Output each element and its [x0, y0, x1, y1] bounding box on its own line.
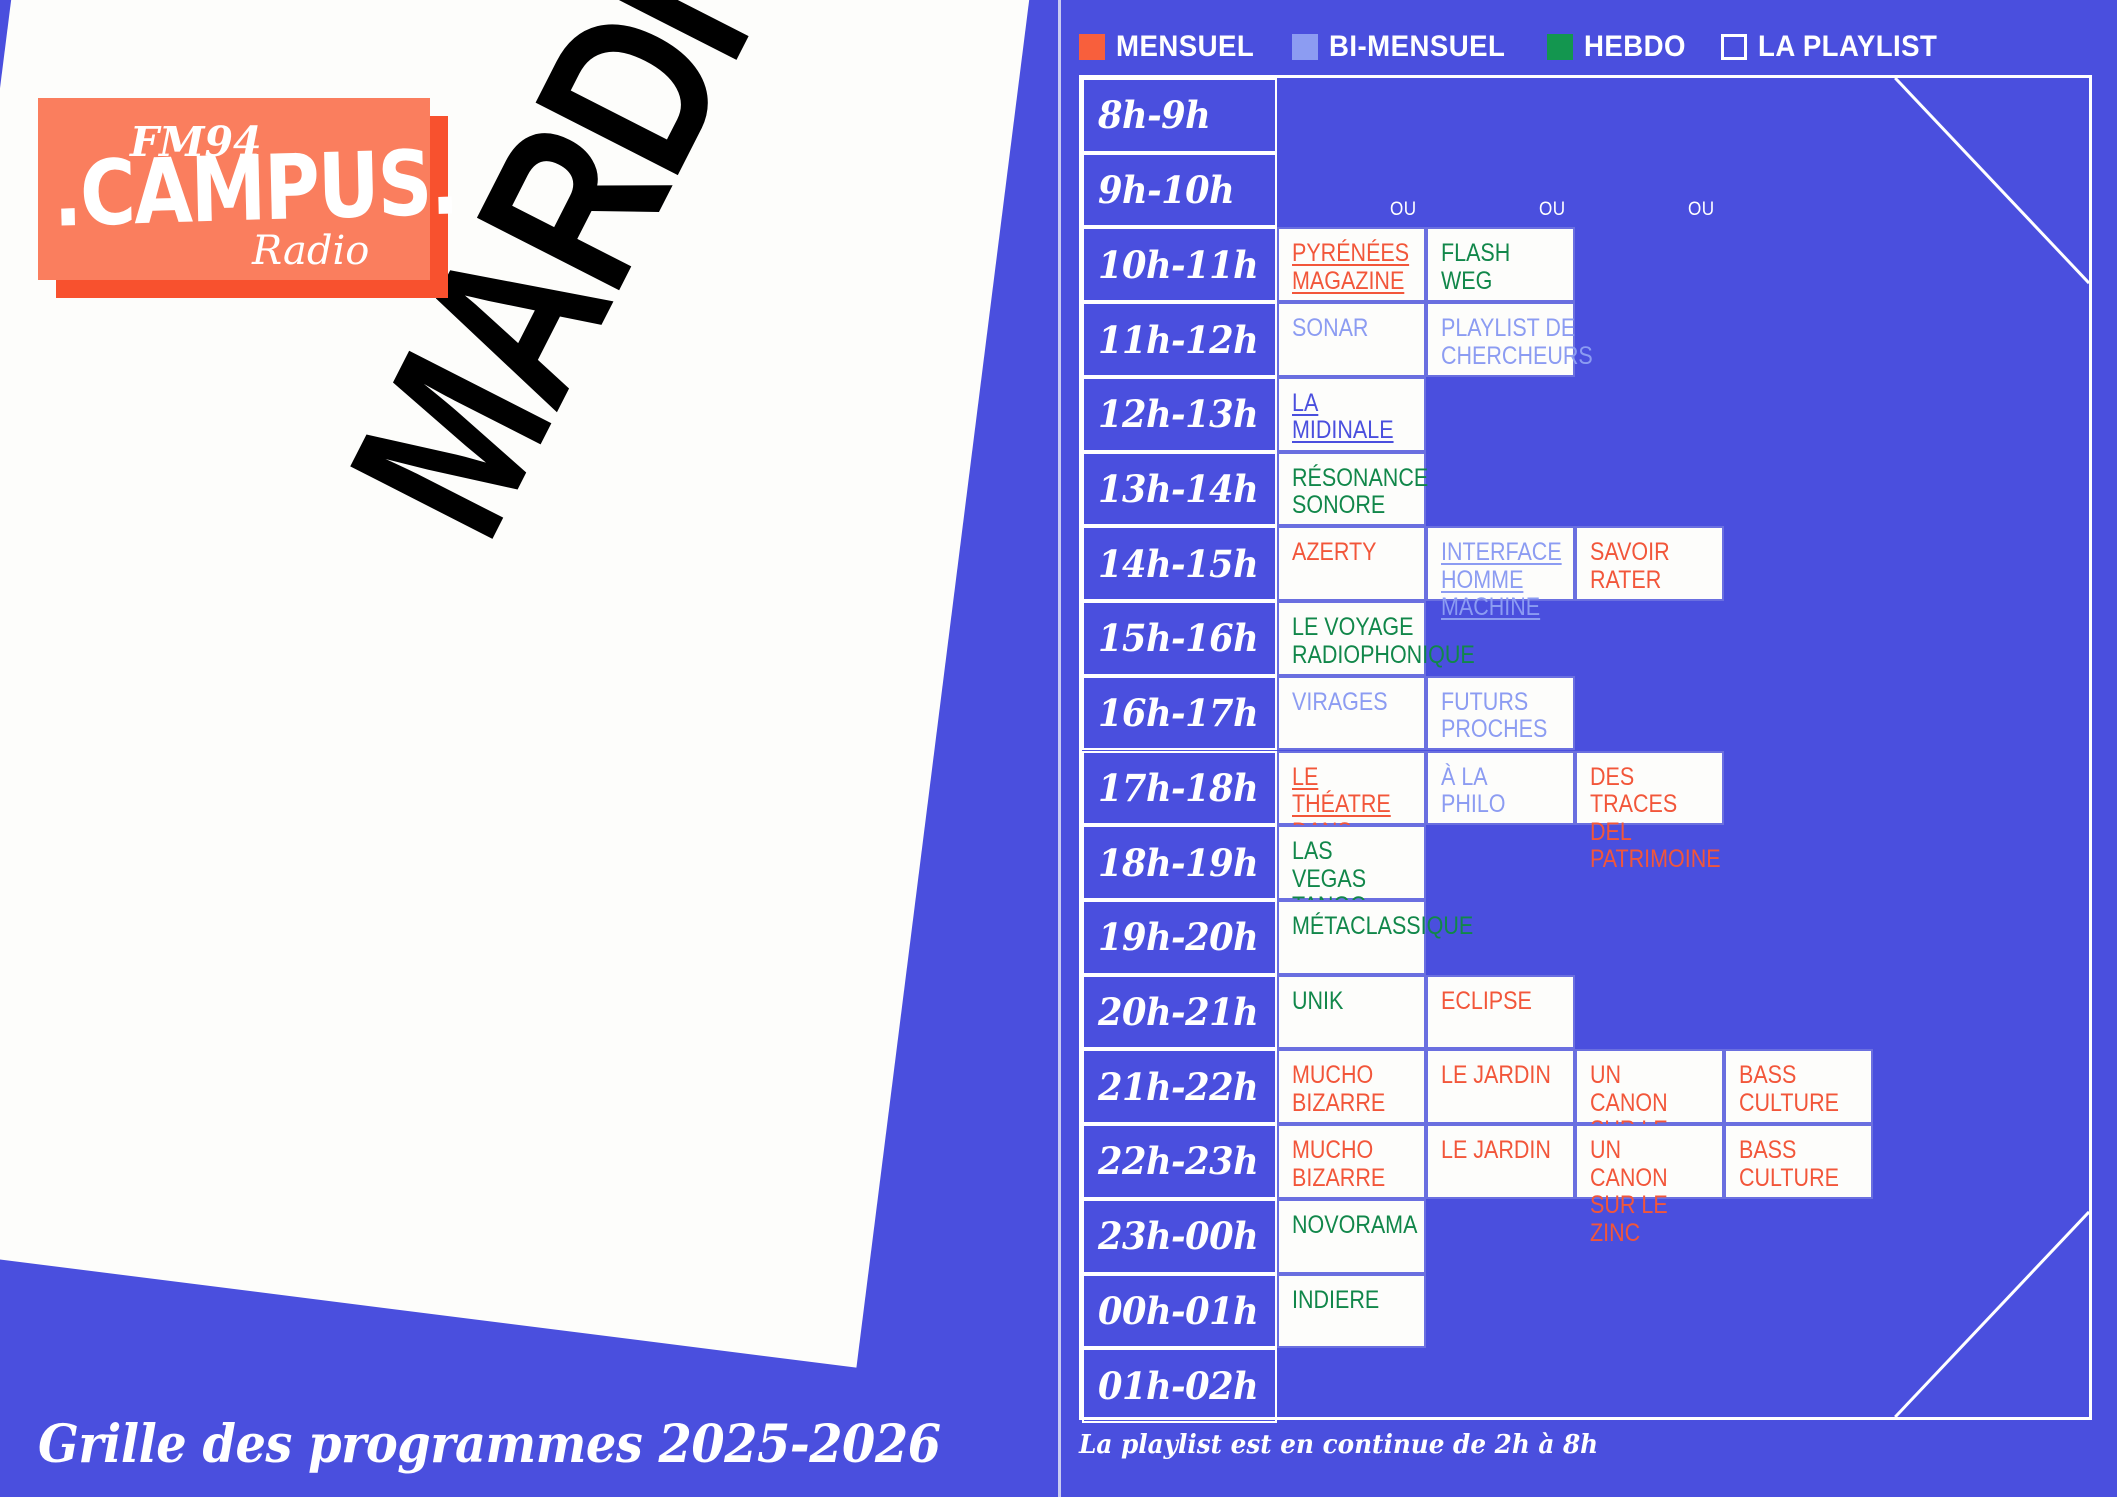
schedule-row: 01h-02h [1082, 1348, 2089, 1423]
program-title: FUTURS PROCHES [1441, 689, 1547, 744]
program-cell[interactable]: LE VOYAGE RADIOPHONIQUE [1277, 601, 1426, 676]
time-slot-label: 20h-21h [1098, 990, 1258, 1034]
time-slot-cell: 01h-02h [1082, 1348, 1277, 1423]
program-title: AZERTY [1292, 539, 1376, 567]
program-cell[interactable]: NOVORAMA [1277, 1199, 1426, 1274]
program-cell[interactable]: FLASH WEG [1426, 227, 1575, 302]
schedule-row: 20h-21hUNIKECLIPSE [1082, 975, 2089, 1050]
program-cell[interactable]: MUCHO BIZARRE [1277, 1049, 1426, 1124]
schedule-row: 10h-11hPYRÉNÉES MAGAZINEFLASH WEG [1082, 227, 2089, 302]
left-panel: MARDI FM94 .CAMPUS. Radio Grille des pro… [0, 0, 1058, 1497]
legend-label: HEBDO [1584, 30, 1686, 64]
time-slot-cell: 18h-19h [1082, 825, 1277, 900]
program-title: BASS CULTURE [1739, 1137, 1853, 1192]
legend-label: MENSUEL [1116, 30, 1254, 64]
program-cell[interactable]: AZERTY [1277, 526, 1426, 601]
program-cell[interactable]: ECLIPSE [1426, 975, 1575, 1050]
schedule-row: 15h-16hLE VOYAGE RADIOPHONIQUE [1082, 601, 2089, 676]
time-slot-label: 23h-00h [1098, 1214, 1258, 1258]
program-title: MÉTACLASSIQUE [1292, 913, 1473, 941]
program-title: PLAYLIST DE CHERCHEURS [1441, 315, 1593, 370]
time-slot-cell: 19h-20h [1082, 900, 1277, 975]
program-cell[interactable]: MÉTACLASSIQUE [1277, 900, 1426, 975]
program-cell[interactable]: INTERFACE HOMME MACHINE [1426, 526, 1575, 601]
program-cell[interactable]: FUTURS PROCHES [1426, 676, 1575, 751]
program-title: PYRÉNÉES MAGAZINE [1292, 240, 1409, 295]
legend-item-mensuel: MENSUEL [1079, 30, 1266, 64]
time-slot-label: 10h-11h [1098, 243, 1258, 287]
program-title: LE JARDIN [1441, 1137, 1551, 1165]
time-slot-label: 15h-16h [1098, 616, 1258, 660]
time-slot-cell: 11h-12h [1082, 302, 1277, 377]
program-cell[interactable]: VIRAGES [1277, 676, 1426, 751]
program-cell[interactable]: LAS VEGAS TANGO [1277, 825, 1426, 900]
program-cell[interactable]: UNIK [1277, 975, 1426, 1050]
time-slot-cell: 14h-15h [1082, 526, 1277, 601]
program-title: MUCHO BIZARRE [1292, 1062, 1385, 1117]
program-cell[interactable]: MUCHO BIZARRE [1277, 1124, 1426, 1199]
program-cell[interactable]: SAVOIR RATER [1575, 526, 1724, 601]
program-title: BASS CULTURE [1739, 1062, 1853, 1117]
program-cell[interactable]: INDIERE [1277, 1274, 1426, 1349]
station-logo: FM94 .CAMPUS. Radio [38, 98, 448, 298]
program-title: SONAR [1292, 315, 1368, 343]
schedule-row: 17h-18hLE THÉATRE DANS TOUS SES ÉTATSÀ L… [1082, 751, 2089, 826]
schedule-row: 22h-23hMUCHO BIZARRELE JARDINUN CANON SU… [1082, 1124, 2089, 1199]
time-slot-label: 13h-14h [1098, 467, 1258, 511]
mensuel-swatch-icon [1079, 34, 1105, 60]
program-title: INDIERE [1292, 1287, 1379, 1315]
legend-item-hebdo: HEBDO [1547, 30, 1695, 64]
time-slot-label: 8h-9h [1098, 93, 1210, 137]
time-slot-label: 16h-17h [1098, 691, 1258, 735]
time-slot-label: 01h-02h [1098, 1364, 1258, 1408]
time-slot-label: 9h-10h [1098, 168, 1234, 212]
schedule-grid: 8h-9h9h-10h10h-11hPYRÉNÉES MAGAZINEFLASH… [1079, 75, 2092, 1420]
time-slot-cell: 9h-10h [1082, 153, 1277, 228]
time-slot-cell: 21h-22h [1082, 1049, 1277, 1124]
program-title: ECLIPSE [1441, 988, 1532, 1016]
schedule-row: 11h-12hSONARPLAYLIST DE CHERCHEURS [1082, 302, 2089, 377]
program-cell[interactable]: LE THÉATRE DANS TOUS SES ÉTATS [1277, 751, 1426, 826]
time-slot-label: 18h-19h [1098, 841, 1258, 885]
program-title: RÉSONANCE SONORE [1292, 465, 1428, 520]
time-slot-label: 19h-20h [1098, 915, 1258, 959]
time-slot-label: 00h-01h [1098, 1289, 1258, 1333]
schedule-row: 21h-22hMUCHO BIZARRELE JARDINUN CANON SU… [1082, 1049, 2089, 1124]
schedule-row: 23h-00hNOVORAMA [1082, 1199, 2089, 1274]
right-panel: MENSUELBI-MENSUELHEBDOLA PLAYLIST 8h-9h9… [1058, 0, 2117, 1497]
time-slot-cell: 12h-13h [1082, 377, 1277, 452]
time-slot-label: 21h-22h [1098, 1065, 1258, 1109]
program-title: VIRAGES [1292, 689, 1388, 717]
time-slot-label: 17h-18h [1098, 766, 1258, 810]
time-slot-cell: 13h-14h [1082, 452, 1277, 527]
schedule-row: 8h-9h [1082, 78, 2089, 153]
time-slot-cell: 20h-21h [1082, 975, 1277, 1050]
program-cell[interactable]: DES TRACES DEL PATRIMOINE [1575, 751, 1724, 826]
page-title: Grille des programmes 2025-2026 [38, 1414, 941, 1475]
legend-label: LA PLAYLIST [1758, 30, 1937, 64]
schedule-row: 19h-20hMÉTACLASSIQUE [1082, 900, 2089, 975]
panel-divider [1058, 0, 1061, 1497]
time-slot-cell: 17h-18h [1082, 751, 1277, 826]
time-slot-label: 12h-13h [1098, 392, 1258, 436]
time-slot-label: 11h-12h [1098, 318, 1258, 362]
program-cell[interactable]: BASS CULTURE [1724, 1124, 1873, 1199]
time-slot-cell: 10h-11h [1082, 227, 1277, 302]
playlist-swatch-icon [1721, 34, 1747, 60]
bi-mensuel-swatch-icon [1292, 34, 1318, 60]
program-cell[interactable]: PYRÉNÉES MAGAZINE [1277, 227, 1426, 302]
time-slot-cell: 23h-00h [1082, 1199, 1277, 1274]
program-cell[interactable]: À LA PHILO [1426, 751, 1575, 826]
program-cell[interactable]: LE JARDIN [1426, 1124, 1575, 1199]
program-cell[interactable]: PLAYLIST DE CHERCHEURS [1426, 302, 1575, 377]
hebdo-swatch-icon [1547, 34, 1573, 60]
program-title: FLASH WEG [1441, 240, 1555, 295]
program-title: NOVORAMA [1292, 1212, 1417, 1240]
program-cell[interactable]: LA MIDINALE [1277, 377, 1426, 452]
time-slot-cell: 00h-01h [1082, 1274, 1277, 1349]
legend-item-bi-mensuel: BI-MENSUEL [1292, 30, 1521, 64]
time-slot-cell: 8h-9h [1082, 78, 1277, 153]
program-title: SAVOIR RATER [1590, 539, 1670, 594]
program-cell[interactable]: UN CANON SUR LE ZINC [1575, 1049, 1724, 1124]
or-label-1: OU [1390, 199, 1417, 221]
program-title: UNIK [1292, 988, 1343, 1016]
legend-item-playlist: LA PLAYLIST [1721, 30, 1953, 64]
schedule-row: 14h-15hAZERTYINTERFACE HOMME MACHINESAVO… [1082, 526, 2089, 601]
playlist-footnote: La playlist est en continue de 2h à 8h [1079, 1430, 1598, 1460]
schedule-row: 18h-19hLAS VEGAS TANGO [1082, 825, 2089, 900]
program-cell[interactable]: BASS CULTURE [1724, 1049, 1873, 1124]
program-title: LA MIDINALE [1292, 390, 1406, 445]
program-title: MUCHO BIZARRE [1292, 1137, 1385, 1192]
poster-page: MARDI FM94 .CAMPUS. Radio Grille des pro… [0, 0, 2117, 1497]
schedule-row: 16h-17hVIRAGESFUTURS PROCHES [1082, 676, 2089, 751]
program-cell[interactable]: LE JARDIN [1426, 1049, 1575, 1124]
logo-radio-label: Radio [252, 228, 369, 274]
program-title: LE VOYAGE RADIOPHONIQUE [1292, 614, 1475, 669]
or-label-3: OU [1688, 199, 1715, 221]
schedule-row: 00h-01hINDIERE [1082, 1274, 2089, 1349]
program-cell[interactable]: RÉSONANCE SONORE [1277, 452, 1426, 527]
time-slot-cell: 22h-23h [1082, 1124, 1277, 1199]
time-slot-label: 22h-23h [1098, 1139, 1258, 1183]
or-label-2: OU [1539, 199, 1566, 221]
legend-label: BI-MENSUEL [1329, 30, 1505, 64]
legend: MENSUELBI-MENSUELHEBDOLA PLAYLIST [1079, 30, 1953, 64]
schedule-row: 13h-14hRÉSONANCE SONORE [1082, 452, 2089, 527]
schedule-row: 9h-10h [1082, 153, 2089, 228]
time-slot-label: 14h-15h [1098, 542, 1258, 586]
program-cell[interactable]: UN CANON SUR LE ZINC [1575, 1124, 1724, 1199]
program-title: LE JARDIN [1441, 1062, 1551, 1090]
time-slot-cell: 16h-17h [1082, 676, 1277, 751]
program-title: À LA PHILO [1441, 764, 1555, 819]
program-cell[interactable]: SONAR [1277, 302, 1426, 377]
schedule-row: 12h-13hLA MIDINALE [1082, 377, 2089, 452]
time-slot-cell: 15h-16h [1082, 601, 1277, 676]
